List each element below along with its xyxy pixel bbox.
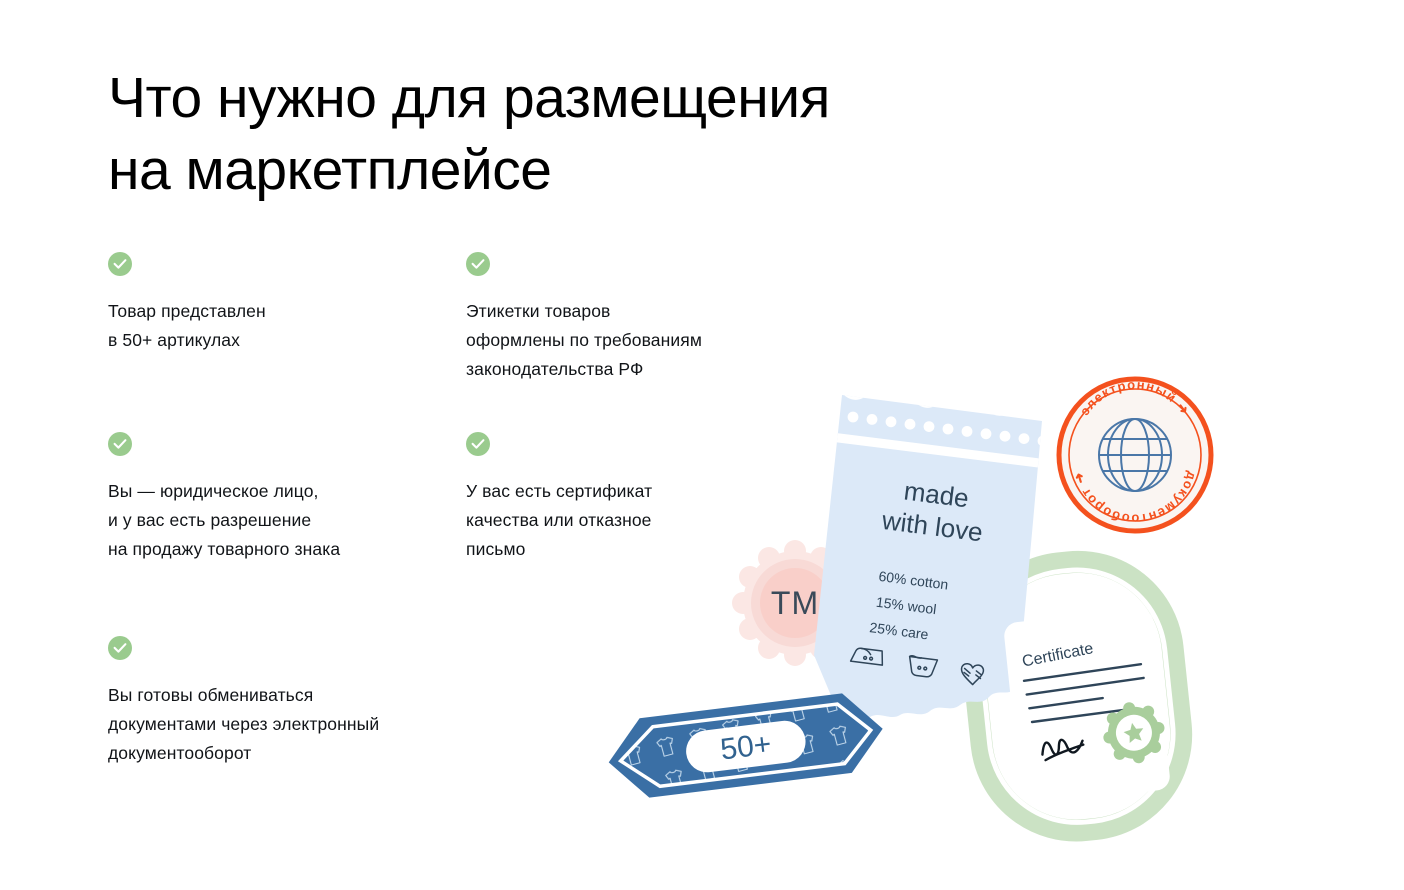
- marketplace-requirements-illustration: TM: [600, 355, 1240, 855]
- feature-item-edo: Вы готовы обмениваться документами через…: [108, 636, 379, 768]
- feature-item-articles: Товар представлен в 50+ артикулах: [108, 252, 266, 355]
- tm-stamp-label: TM: [771, 585, 819, 621]
- check-circle-icon: [108, 636, 132, 660]
- feature-text: Товар представлен в 50+ артикулах: [108, 297, 266, 355]
- check-circle-icon: [466, 432, 490, 456]
- check-circle-icon: [466, 252, 490, 276]
- articles-badge: 50+: [604, 689, 888, 802]
- certificate: Certificate: [1003, 608, 1174, 805]
- feature-item-legal-entity: Вы — юридическое лицо, и у вас есть разр…: [108, 432, 340, 564]
- feature-text: Вы — юридическое лицо, и у вас есть разр…: [108, 477, 340, 564]
- articles-badge-label: 50+: [719, 728, 774, 767]
- check-circle-icon: [108, 252, 132, 276]
- feature-text: Вы готовы обмениваться документами через…: [108, 681, 379, 768]
- check-circle-icon: [108, 432, 132, 456]
- page-title: Что нужно для размещения на маркетплейсе: [108, 62, 1088, 206]
- edo-stamp: электронный ➜ документооборот ➜: [1057, 377, 1213, 533]
